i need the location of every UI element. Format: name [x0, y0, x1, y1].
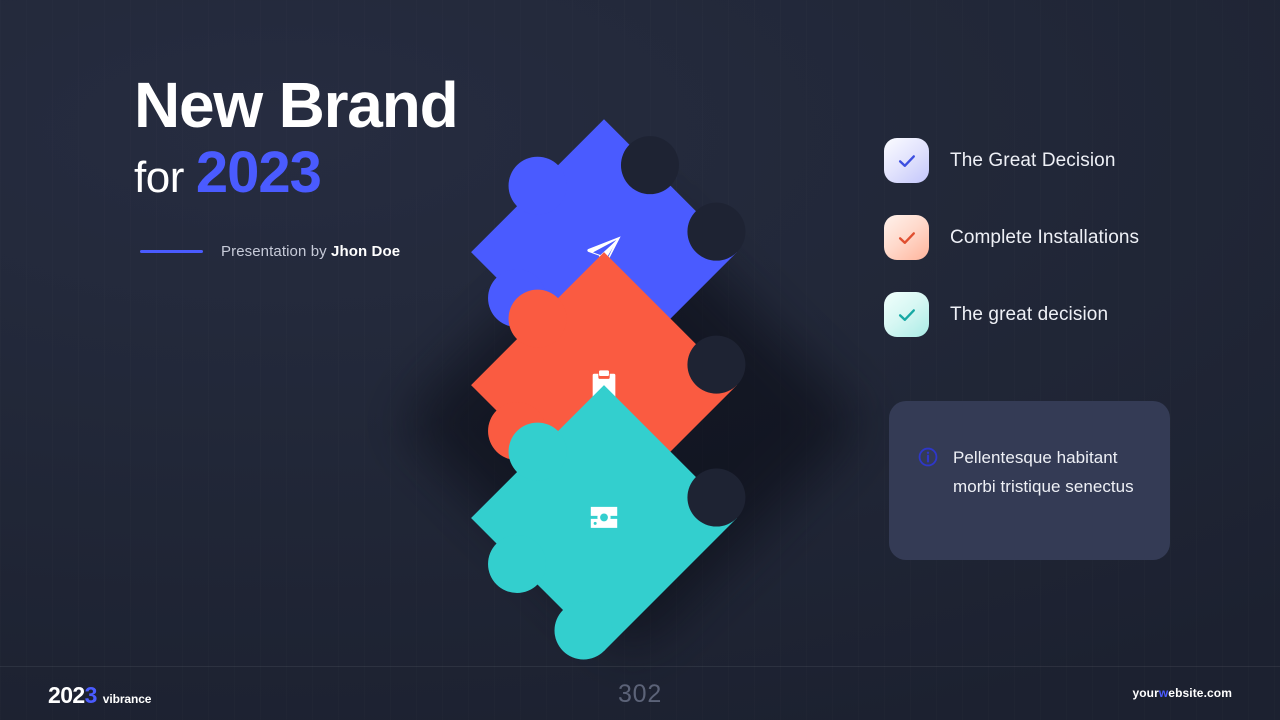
page-number: 302 [0, 680, 1280, 709]
checklist-item-1[interactable]: The Great Decision [884, 138, 1234, 183]
footer-website[interactable]: yourwebsite.com [1132, 686, 1232, 700]
puzzle-illustration [318, 108, 878, 653]
presenter-prefix: Presentation by [221, 243, 327, 260]
checklist-item-2-label: Complete Installations [950, 227, 1139, 249]
check-icon [896, 304, 918, 326]
checklist-item-3-label: The great decision [950, 304, 1108, 326]
checklist-item-2[interactable]: Complete Installations [884, 215, 1234, 260]
presenter-rule [140, 250, 203, 253]
check-badge-peach[interactable] [884, 215, 929, 260]
check-badge-blue[interactable] [884, 138, 929, 183]
checklist-item-3[interactable]: The great decision [884, 292, 1234, 337]
info-icon [917, 446, 939, 473]
check-icon [896, 150, 918, 172]
footer-website-suffix: ebsite.com [1168, 686, 1232, 700]
subtitle-year: 2023 [196, 140, 321, 205]
check-icon [896, 227, 918, 249]
info-card-text: Pellentesque habitant morbi tristique se… [953, 443, 1148, 501]
slide-canvas: New Brand for2023 Presentation by Jhon D… [0, 0, 1280, 720]
checklist-item-1-label: The Great Decision [950, 150, 1115, 172]
footer-website-prefix: your [1132, 686, 1158, 700]
checklist: The Great Decision Complete Installation… [884, 138, 1234, 369]
info-card: Pellentesque habitant morbi tristique se… [889, 401, 1170, 560]
subtitle-for-word: for [134, 153, 184, 202]
check-badge-mint[interactable] [884, 292, 929, 337]
footer-divider [0, 666, 1280, 667]
puzzle-rotation-group [207, 0, 988, 720]
server-icon [583, 497, 625, 539]
footer-website-accent: w [1159, 686, 1168, 700]
